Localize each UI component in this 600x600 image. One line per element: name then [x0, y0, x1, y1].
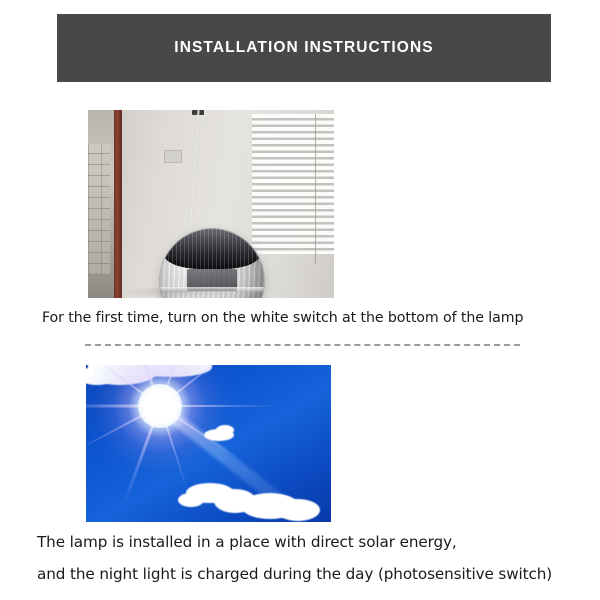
- cloud-lower: [276, 499, 320, 521]
- brick-wall: [88, 144, 110, 276]
- wall-outlet: [164, 150, 182, 163]
- bright-sun-blue-sky-photo: [86, 365, 331, 522]
- cloud-middle: [216, 425, 234, 435]
- step-2-caption-line-2: and the night light is charged during th…: [37, 565, 552, 583]
- blinds-cord: [315, 114, 317, 264]
- header-banner: INSTALLATION INSTRUCTIONS: [57, 14, 551, 82]
- hanging-solar-ball-lamp-photo: [88, 110, 334, 298]
- lamp-cap-ribs: [164, 228, 260, 269]
- sun-core: [138, 384, 182, 428]
- lamp-top-cap: [164, 228, 260, 269]
- page-title: INSTALLATION INSTRUCTIONS: [174, 39, 433, 57]
- floor-shadow: [118, 286, 238, 298]
- step-1-caption: For the first time, turn on the white sw…: [42, 310, 523, 326]
- step-2-caption-line-1: The lamp is installed in a place with di…: [37, 533, 457, 551]
- section-divider: [85, 344, 520, 346]
- venetian-blinds: [252, 114, 334, 254]
- door-frame: [114, 110, 122, 298]
